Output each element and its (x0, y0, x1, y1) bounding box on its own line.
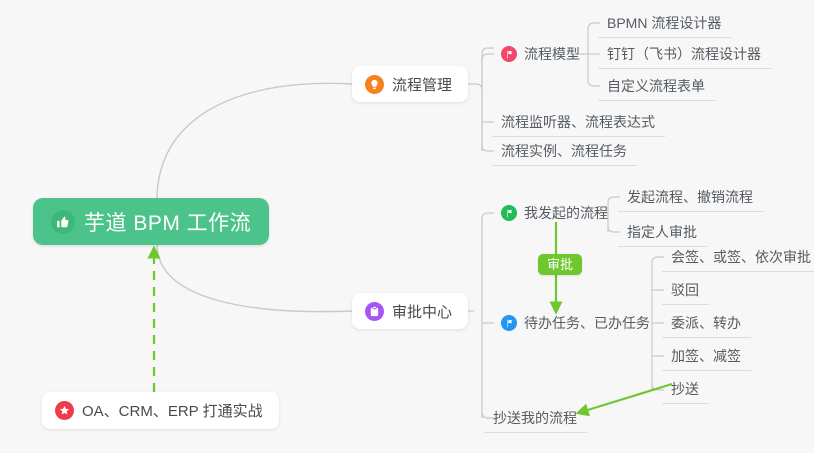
node-my-initiated-flows[interactable]: 我发起的流程 (492, 199, 618, 228)
note-card-label: OA、CRM、ERP 打通实战 (82, 400, 263, 421)
flag-green-icon (501, 205, 517, 221)
flag-red-icon (501, 46, 517, 62)
node-flow-listener-expression-label: 流程监听器、流程表达式 (501, 112, 655, 132)
node-start-cancel-flow[interactable]: 发起流程、撤销流程 (618, 183, 763, 212)
node-reject[interactable]: 驳回 (662, 276, 709, 305)
node-start-cancel-flow-label: 发起流程、撤销流程 (627, 187, 753, 207)
node-flow-instance-task[interactable]: 流程实例、流程任务 (492, 137, 637, 166)
node-custom-flow-form[interactable]: 自定义流程表单 (598, 72, 715, 101)
node-delegate-transfer-label: 委派、转办 (671, 313, 741, 333)
thumbs-up-icon (51, 210, 75, 234)
node-designated-approver-label: 指定人审批 (627, 222, 697, 242)
note-card-oa-crm-erp[interactable]: OA、CRM、ERP 打通实战 (42, 392, 279, 429)
node-cc-label: 抄送 (671, 379, 699, 399)
node-custom-flow-form-label: 自定义流程表单 (607, 76, 705, 96)
node-bpmn-designer-label: BPMN 流程设计器 (607, 13, 721, 33)
flag-blue-icon (501, 315, 517, 331)
node-dingtalk-feishu-designer-label: 钉钉（飞书）流程设计器 (607, 44, 761, 64)
node-reject-label: 驳回 (671, 280, 699, 300)
link-root-to-approval-center (157, 244, 352, 312)
node-flow-instance-task-label: 流程实例、流程任务 (501, 141, 627, 161)
annotation-chip-approve-label: 审批 (547, 257, 573, 272)
branch-label-approval-center: 审批中心 (392, 301, 452, 322)
branch-label-flow-management: 流程管理 (392, 74, 452, 95)
node-add-remove-sign[interactable]: 加签、减签 (662, 342, 751, 371)
lightbulb-icon (365, 75, 384, 94)
node-todo-done-tasks[interactable]: 待办任务、已办任务 (492, 309, 660, 338)
node-bpmn-designer[interactable]: BPMN 流程设计器 (598, 9, 731, 38)
node-dingtalk-feishu-designer[interactable]: 钉钉（飞书）流程设计器 (598, 40, 771, 69)
mindmap-canvas: 芋道 BPM 工作流 OA、CRM、ERP 打通实战 流程管理 流程模型 BPM… (0, 0, 814, 453)
node-add-remove-sign-label: 加签、减签 (671, 346, 741, 366)
node-countersign-orsign-sequential[interactable]: 会签、或签、依次审批 (662, 243, 814, 272)
link-root-to-flow-management (157, 83, 352, 200)
node-flow-model-label: 流程模型 (524, 44, 580, 64)
arrow-cc-to-my-flows (578, 384, 672, 413)
trunk-flow-management (474, 48, 494, 150)
clipboard-icon (365, 302, 384, 321)
node-delegate-transfer[interactable]: 委派、转办 (662, 309, 751, 338)
node-cc-to-me-flows[interactable]: 抄送我的流程 (484, 404, 587, 433)
node-todo-done-tasks-label: 待办任务、已办任务 (524, 313, 650, 333)
node-flow-listener-expression[interactable]: 流程监听器、流程表达式 (492, 108, 665, 137)
root-label: 芋道 BPM 工作流 (84, 207, 251, 237)
star-icon (55, 401, 74, 420)
root-node[interactable]: 芋道 BPM 工作流 (33, 198, 269, 245)
branch-node-flow-management[interactable]: 流程管理 (352, 66, 468, 102)
node-my-initiated-flows-label: 我发起的流程 (524, 203, 608, 223)
node-cc[interactable]: 抄送 (662, 375, 709, 404)
branch-node-approval-center[interactable]: 审批中心 (352, 293, 468, 329)
node-cc-to-me-flows-label: 抄送我的流程 (493, 408, 577, 428)
node-flow-model[interactable]: 流程模型 (492, 40, 590, 69)
annotation-chip-approve: 审批 (538, 254, 582, 275)
node-countersign-orsign-sequential-label: 会签、或签、依次审批 (671, 247, 811, 267)
